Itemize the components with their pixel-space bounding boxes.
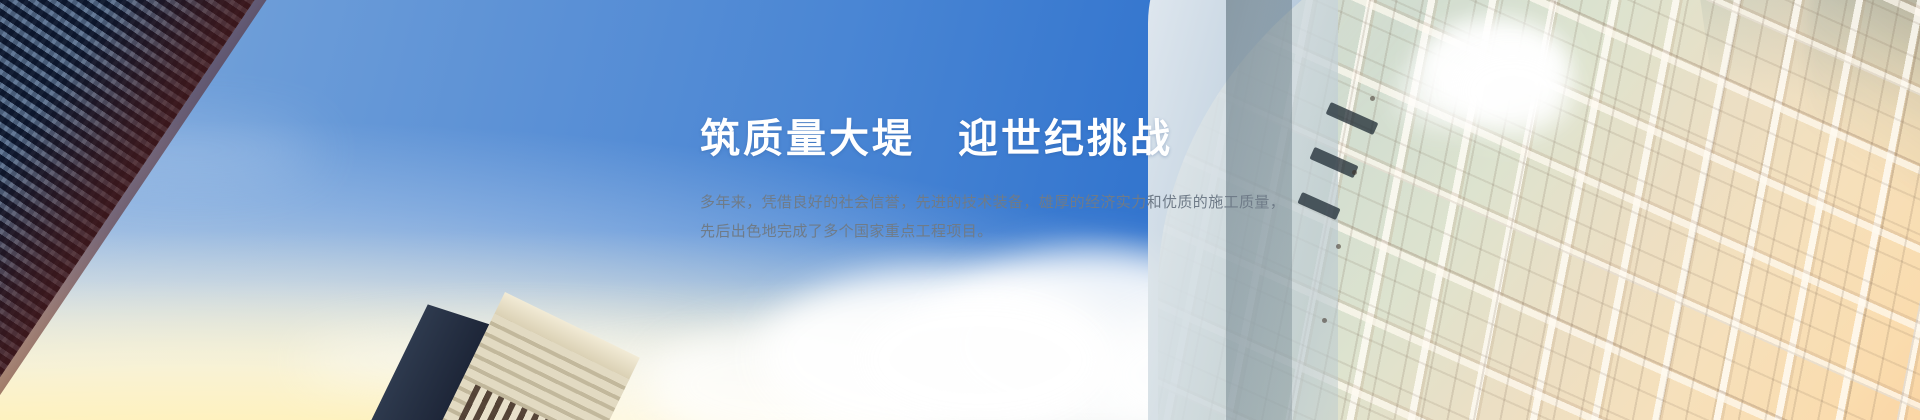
cloud-top-right-b: [1452, 48, 1572, 134]
hero-banner: 筑质量大堤 迎世纪挑战 多年来，凭借良好的社会信誉，先进的技术装备，雄厚的经济实…: [0, 0, 1920, 420]
banner-copy: 筑质量大堤 迎世纪挑战 多年来，凭借良好的社会信誉，先进的技术装备，雄厚的经济实…: [700, 112, 1320, 246]
curved-tower-fixing-dot: [1322, 318, 1327, 323]
curved-tower-fixing-dot: [1336, 244, 1341, 249]
banner-body: 多年来，凭借良好的社会信誉，先进的技术装备，雄厚的经济实力和优质的施工质量， 先…: [700, 166, 1320, 246]
cloud-center-e: [860, 300, 1100, 420]
curved-tower-fixing-dot: [1352, 170, 1357, 175]
banner-headline: 筑质量大堤 迎世纪挑战: [700, 112, 1320, 166]
banner-body-line-2: 先后出色地完成了多个国家重点工程项目。: [700, 217, 1320, 246]
left-building-group: [0, 0, 760, 420]
banner-body-line-1: 多年来，凭借良好的社会信誉，先进的技术装备，雄厚的经济实力和优质的施工质量，: [700, 188, 1320, 217]
curved-tower-fixing-dot: [1370, 96, 1375, 101]
